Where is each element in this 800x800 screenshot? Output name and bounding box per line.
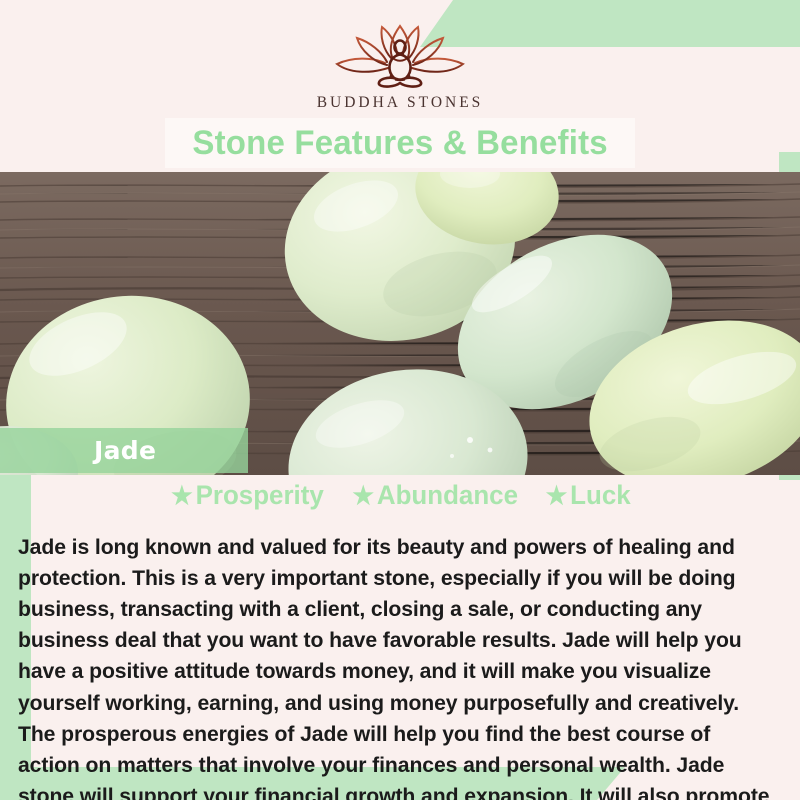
star-icon: ★ [352, 482, 374, 510]
benefit-label: Luck [570, 480, 631, 510]
brand-name: BUDDHA STONES [0, 94, 800, 112]
stone-name-label: Jade [94, 436, 156, 465]
star-icon: ★ [171, 482, 193, 510]
benefit-item: ★Luck [546, 480, 631, 511]
brand-logo: BUDDHA STONES [0, 24, 800, 112]
page-title: Stone Features & Benefits [192, 124, 607, 163]
star-icon: ★ [546, 482, 568, 510]
stone-description: Jade is long known and valued for its be… [18, 532, 774, 800]
benefit-label: Abundance [377, 480, 518, 510]
benefit-item: ★Prosperity [171, 480, 324, 511]
lotus-meditation-icon [325, 24, 475, 88]
benefit-label: Prosperity [195, 480, 323, 510]
title-banner: Stone Features & Benefits [165, 118, 635, 168]
benefit-item: ★Abundance [352, 480, 518, 511]
benefits-row: ★Prosperity ★Abundance ★Luck [0, 480, 800, 511]
stone-name-band: Jade [0, 428, 248, 473]
infographic-page: BUDDHA STONES Stone Features & Benefits [0, 0, 800, 800]
